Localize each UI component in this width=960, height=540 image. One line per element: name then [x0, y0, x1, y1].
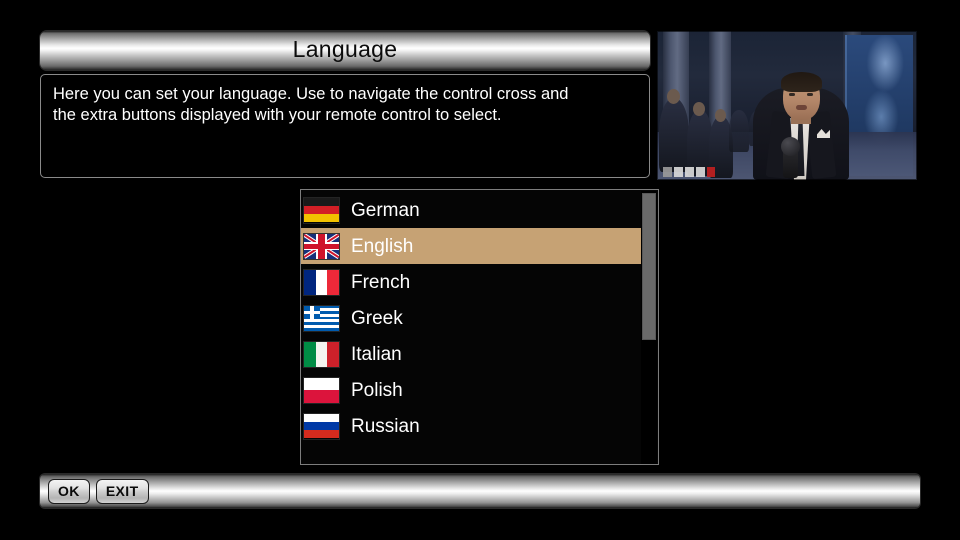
language-label: Russian [351, 417, 420, 436]
bug-segment-accent [707, 167, 715, 177]
list-scrollbar-track[interactable] [641, 191, 657, 465]
bug-segment [696, 167, 705, 177]
flag-united-kingdom-icon [304, 234, 339, 259]
list-item-polish[interactable]: Polish [301, 372, 642, 408]
page-title: Language [293, 38, 398, 63]
list-item-greek[interactable]: Greek [301, 300, 642, 336]
reporter-eye-right [807, 93, 813, 96]
crowd-head [667, 89, 680, 104]
list-item-french[interactable]: French [301, 264, 642, 300]
crowd-figure [729, 110, 749, 152]
flag-italy-icon [304, 342, 339, 367]
reporter-hair [781, 72, 822, 92]
help-text-box: Here you can set your language. Use to n… [40, 74, 650, 178]
language-list: German English French [301, 192, 642, 444]
language-label: Italian [351, 345, 402, 364]
exit-button[interactable]: EXIT [96, 479, 149, 504]
ok-button[interactable]: OK [48, 479, 90, 504]
softkey-bar: OK EXIT [40, 474, 920, 508]
flag-france-icon [304, 270, 339, 295]
ok-button-label: OK [58, 484, 80, 498]
crowd-head [693, 102, 705, 116]
bug-segment [674, 167, 683, 177]
help-text-line-1: Here you can set your language. Use to n… [53, 84, 637, 105]
exit-button-label: EXIT [106, 484, 139, 498]
language-list-panel: German English French [300, 189, 659, 465]
flag-germany-icon [304, 198, 339, 223]
help-text-line-2: the extra buttons displayed with your re… [53, 105, 637, 126]
language-label: English [351, 237, 413, 256]
language-label: Polish [351, 381, 403, 400]
list-item-russian[interactable]: Russian [301, 408, 642, 444]
crowd-head [715, 109, 726, 122]
tv-settings-screen: Language Here you can set your language.… [0, 0, 960, 540]
video-preview[interactable] [657, 31, 917, 180]
title-bar: Language [40, 31, 650, 70]
bug-segment [663, 167, 672, 177]
list-item-italian[interactable]: Italian [301, 336, 642, 372]
flag-poland-icon [304, 378, 339, 403]
bug-segment [685, 167, 694, 177]
flag-greece-icon [304, 306, 339, 331]
list-item-german[interactable]: German [301, 192, 642, 228]
channel-logo-bug [663, 167, 715, 177]
language-label: Greek [351, 309, 403, 328]
list-scrollbar-thumb[interactable] [642, 193, 656, 340]
flag-russia-icon [304, 414, 339, 439]
language-label: French [351, 273, 410, 292]
crowd-figure [659, 98, 689, 172]
microphone-head [781, 137, 800, 156]
reporter-eye-left [789, 93, 795, 96]
reporter-mouth [796, 105, 807, 110]
list-item-english[interactable]: English [301, 228, 642, 264]
language-label: German [351, 201, 420, 220]
